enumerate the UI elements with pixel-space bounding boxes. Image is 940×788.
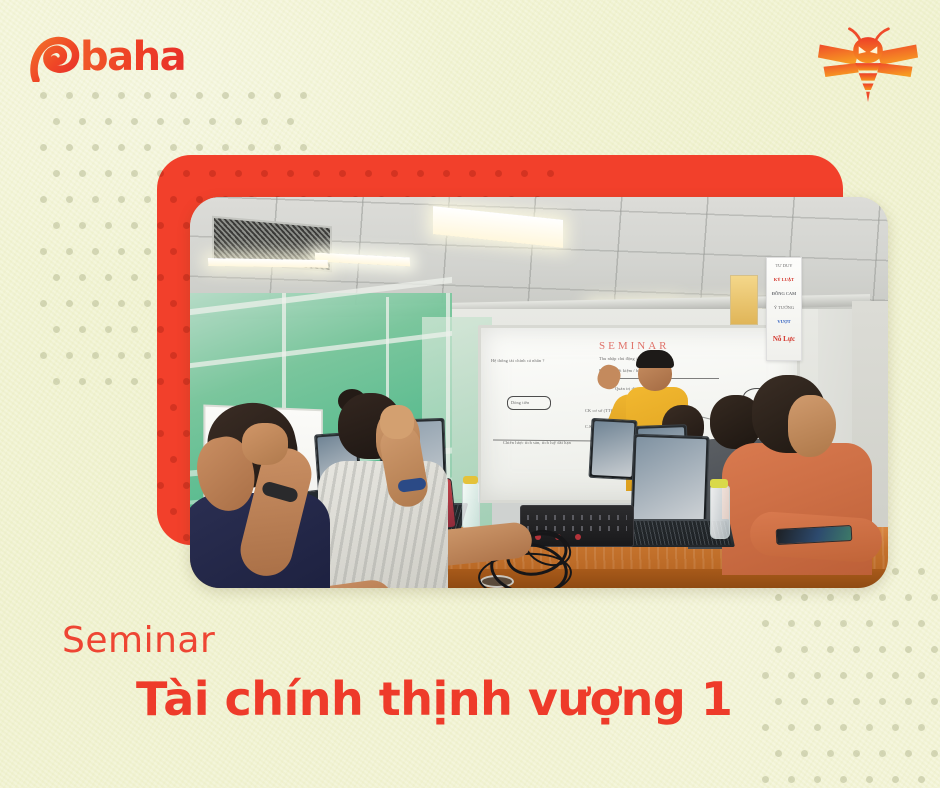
poster-line: Ý TƯỞNG (771, 306, 797, 311)
mixer-knob (575, 534, 581, 540)
dot-pattern-bottom-right (762, 568, 940, 788)
abaha-a-loop-icon (28, 36, 84, 82)
laptop-display (634, 437, 707, 523)
wall-poster: TƯ DUY KỶ LUẬT ĐỒNG CAM Ý TƯỞNG VƯỢT Nỗ … (766, 257, 802, 361)
water-bottle-cap (710, 479, 728, 488)
poster-canvas: chất sở hữu tài chính quản trị rủi ro dò… (0, 0, 940, 788)
mixer-controls (527, 515, 627, 520)
bee-icon (812, 26, 924, 102)
presenter-hair (636, 350, 674, 368)
abaha-logo[interactable]: baha (28, 36, 198, 82)
laptop-display (592, 421, 635, 477)
poster-line: VƯỢT (771, 320, 797, 325)
whiteboard-shape (507, 396, 551, 410)
caption-subtitle: Seminar (62, 620, 215, 661)
laptop-screen (630, 434, 709, 527)
seminar-photo: chất sở hữu tài chính quản trị rủi ro dò… (190, 197, 888, 588)
participant-1-hand (242, 423, 288, 465)
caption-title: Tài chính thịnh vượng 1 (136, 672, 732, 726)
wall-poster-small (730, 275, 758, 325)
abaha-logo-text: baha (80, 34, 185, 80)
water-bottle (710, 485, 730, 539)
water-bottle (462, 481, 480, 529)
participant-2-hand (380, 405, 414, 439)
whiteboard-note: Hệ thống tài chính cá nhân ? (491, 358, 545, 363)
poster-line: ĐỒNG CAM (771, 292, 797, 297)
poster-line: TƯ DUY (771, 264, 797, 269)
water-bottle-cap (463, 476, 478, 484)
laptop-screen (588, 418, 637, 480)
participant-2-body (318, 461, 448, 588)
poster-line: Nỗ Lực (771, 336, 797, 343)
poster-line: KỶ LUẬT (771, 278, 797, 283)
